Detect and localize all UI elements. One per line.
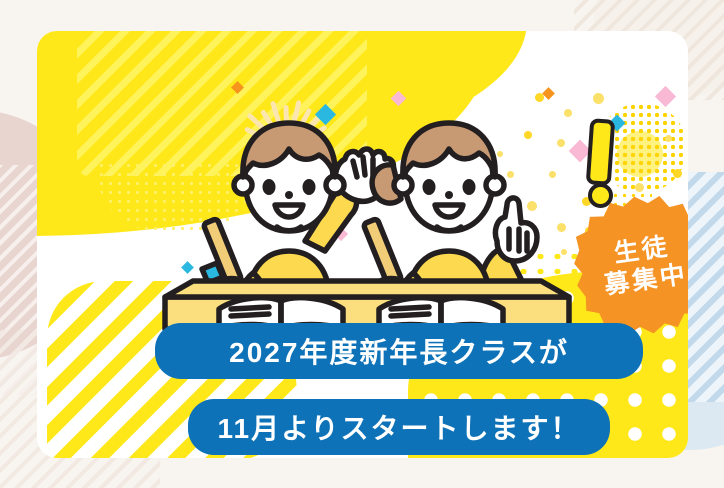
girl-hand <box>495 198 537 261</box>
flyer-canvas: .ol{stroke:#231f20;stroke-width:5.5;stro… <box>0 0 724 488</box>
confetti-dot <box>665 135 672 142</box>
headline-banner-secondary: 11月よりスタートします！ <box>188 399 610 455</box>
confetti-orange-square <box>542 87 555 100</box>
exclamation-mark-bar <box>586 118 616 186</box>
headline-banner-secondary-text: 11月よりスタートします！ <box>217 407 580 447</box>
headline-banner-primary: 2027年度新年長クラスが <box>155 323 643 379</box>
confetti-pink-diamond <box>655 86 676 107</box>
main-card: .ol{stroke:#231f20;stroke-width:5.5;stro… <box>37 31 688 458</box>
confetti-dot <box>593 93 604 104</box>
confetti-dot <box>673 169 682 178</box>
confetti-dot <box>635 183 644 192</box>
exclamation-mark-dot <box>588 183 613 208</box>
girl-pencil <box>363 218 402 285</box>
boy-pencil <box>202 218 242 285</box>
headline-banner-primary-text: 2027年度新年長クラスが <box>229 331 569 371</box>
children-illustration: .ol{stroke:#231f20;stroke-width:5.5;stro… <box>157 101 577 333</box>
